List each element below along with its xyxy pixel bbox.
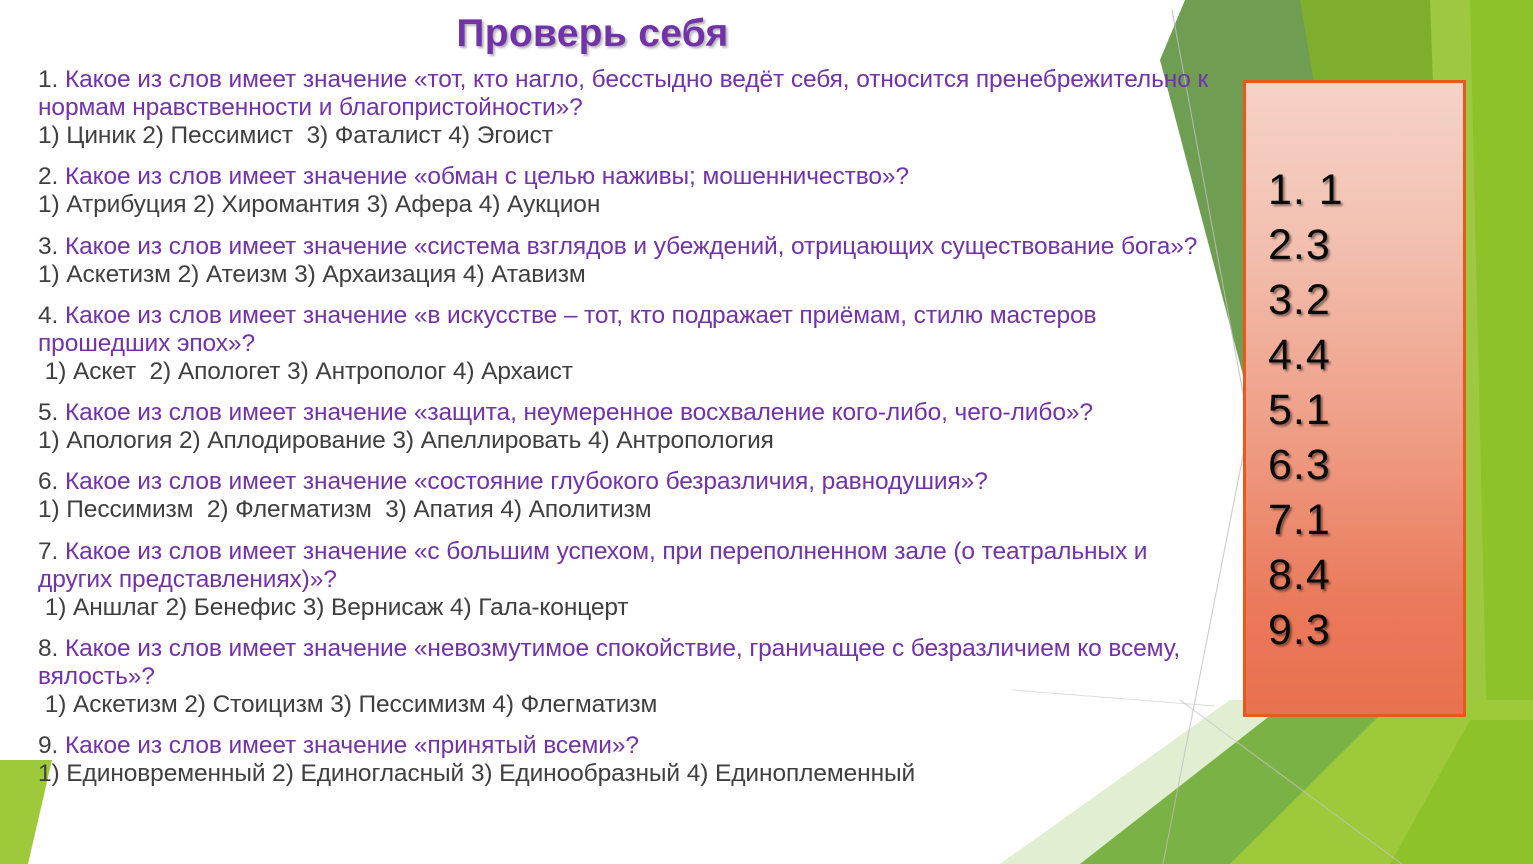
hairline-bottom-diagonal	[1180, 700, 1402, 864]
green-shape-bottom-bright	[1230, 700, 1533, 864]
answer-key-row: 7.1	[1268, 493, 1463, 548]
question-item: 2. Какое из слов имеет значение «обман с…	[38, 163, 1213, 219]
presentation-slide: Проверь себя 1. Какое из слов имеет знач…	[0, 0, 1533, 864]
question-text: Какое из слов имеет значение «состояние …	[58, 468, 988, 495]
question-text: Какое из слов имеет значение «принятый в…	[58, 732, 639, 759]
question-options: 1) Единовременный 2) Единогласный 3) Еди…	[38, 760, 1213, 788]
answer-key-row: 5.1	[1268, 383, 1463, 438]
question-options: 1) Атрибуция 2) Хиромантия 3) Афера 4) А…	[38, 191, 1213, 219]
question-prompt: 5. Какое из слов имеет значение «защита,…	[38, 399, 1213, 427]
answer-key-row: 3.2	[1268, 273, 1463, 328]
question-list: 1. Какое из слов имеет значение «тот, кт…	[38, 66, 1213, 802]
question-number: 3.	[38, 233, 58, 260]
green-shape-right-bright	[1470, 0, 1533, 864]
green-shape-bottom-light	[1390, 720, 1533, 864]
answer-key-row: 1. 1	[1268, 163, 1463, 218]
page-title: Проверь себя	[0, 12, 1185, 56]
question-number: 6.	[38, 468, 58, 495]
question-prompt: 4. Какое из слов имеет значение «в искус…	[38, 302, 1213, 358]
question-prompt: 8. Какое из слов имеет значение «невозму…	[38, 635, 1213, 691]
question-text: Какое из слов имеет значение «система вз…	[58, 233, 1197, 260]
question-text: Какое из слов имеет значение «невозмутим…	[38, 635, 1180, 690]
question-item: 6. Какое из слов имеет значение «состоян…	[38, 468, 1213, 524]
question-options: 1) Пессимизм 2) Флегматизм 3) Апатия 4) …	[38, 496, 1213, 524]
question-text: Какое из слов имеет значение «в искусств…	[38, 302, 1096, 357]
question-prompt: 6. Какое из слов имеет значение «состоян…	[38, 468, 1213, 496]
answer-key-row: 2.3	[1268, 218, 1463, 273]
question-options: 1) Апология 2) Аплодирование 3) Апеллиро…	[38, 427, 1213, 455]
question-options: 1) Аскетизм 2) Атеизм 3) Архаизация 4) А…	[38, 261, 1213, 289]
question-options: 1) Аскетизм 2) Стоицизм 3) Пессимизм 4) …	[38, 691, 1213, 719]
answer-key-row: 9.3	[1268, 603, 1463, 658]
question-item: 1. Какое из слов имеет значение «тот, кт…	[38, 66, 1213, 150]
question-text: Какое из слов имеет значение «с большим …	[38, 538, 1147, 593]
question-prompt: 3. Какое из слов имеет значение «система…	[38, 233, 1213, 261]
question-number: 9.	[38, 732, 58, 759]
question-prompt: 9. Какое из слов имеет значение «приняты…	[38, 732, 1213, 760]
answer-key-row: 6.3	[1268, 438, 1463, 493]
question-number: 2.	[38, 163, 58, 190]
question-options: 1) Циник 2) Пессимист 3) Фаталист 4) Эго…	[38, 122, 1213, 150]
question-item: 4. Какое из слов имеет значение «в искус…	[38, 302, 1213, 386]
question-options: 1) Аскет 2) Апологет 3) Антрополог 4) Ар…	[38, 358, 1213, 386]
answer-key-panel: 1. 1 2.3 3.2 4.4 5.1 6.3 7.1 8.4 9.3	[1243, 80, 1466, 717]
answer-key-row: 4.4	[1268, 328, 1463, 383]
question-text: Какое из слов имеет значение «защита, не…	[58, 399, 1093, 426]
question-number: 1.	[38, 66, 58, 93]
question-text: Какое из слов имеет значение «обман с це…	[58, 163, 909, 190]
question-item: 5. Какое из слов имеет значение «защита,…	[38, 399, 1213, 455]
question-item: 9. Какое из слов имеет значение «приняты…	[38, 732, 1213, 788]
question-item: 7. Какое из слов имеет значение «с больш…	[38, 538, 1213, 622]
question-number: 8.	[38, 635, 58, 662]
question-number: 4.	[38, 302, 58, 329]
question-item: 8. Какое из слов имеет значение «невозму…	[38, 635, 1213, 719]
question-prompt: 1. Какое из слов имеет значение «тот, кт…	[38, 66, 1213, 122]
question-number: 7.	[38, 538, 58, 565]
question-text: Какое из слов имеет значение «тот, кто н…	[38, 66, 1208, 121]
question-options: 1) Аншлаг 2) Бенефис 3) Вернисаж 4) Гала…	[38, 594, 1213, 622]
question-prompt: 7. Какое из слов имеет значение «с больш…	[38, 538, 1213, 594]
question-prompt: 2. Какое из слов имеет значение «обман с…	[38, 163, 1213, 191]
answer-key-row: 8.4	[1268, 548, 1463, 603]
question-number: 5.	[38, 399, 58, 426]
question-item: 3. Какое из слов имеет значение «система…	[38, 233, 1213, 289]
